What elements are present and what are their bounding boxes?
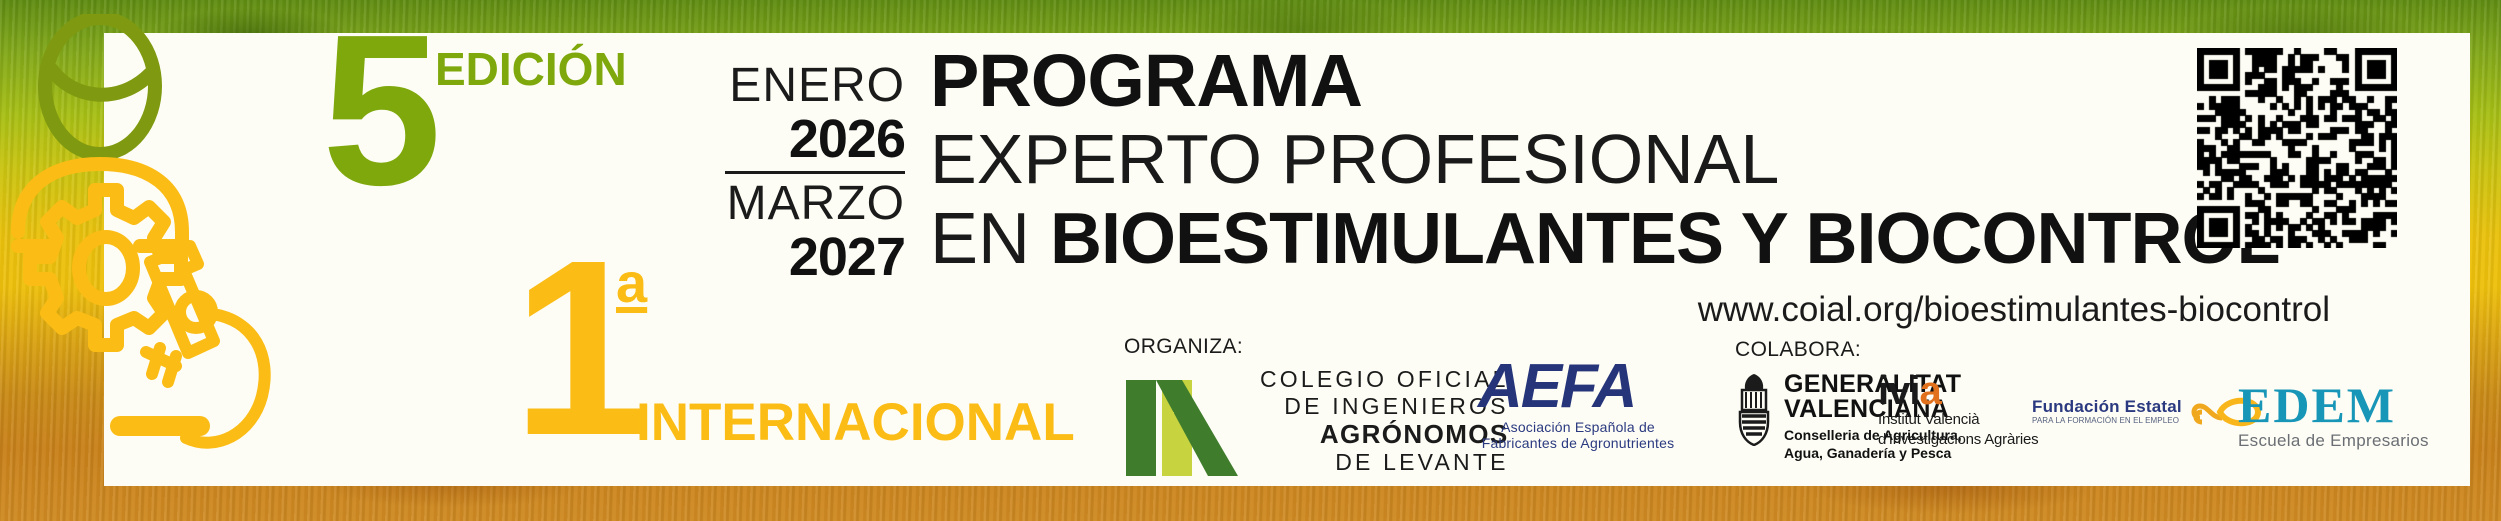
coial-line-4: DE LEVANTE (1260, 449, 1509, 476)
start-year: 2026 (725, 112, 905, 167)
program-url[interactable]: www.coial.org/bioestimulantes-biocontrol (930, 290, 2330, 330)
date-range: ENERO 2026 MARZO 2027 (725, 60, 905, 285)
fundacion-estatal-logo[interactable]: Fundación Estatal PARA LA FORMACIÓN EN E… (2032, 392, 2264, 432)
ivia-logo[interactable]: ivia Institut Valencià d'Investigacions … (1878, 372, 2038, 449)
edem-subtitle: Escuela de Empresarios (2238, 431, 2429, 451)
headline-line-2: EXPERTO PROFESIONAL (930, 120, 2330, 198)
fundacion-line-2: PARA LA FORMACIÓN EN EL EMPLEO (2032, 417, 2182, 426)
colabora-kicker: COLABORA: (1735, 338, 1861, 362)
aefa-wordmark: AEFA (1478, 358, 1678, 417)
aefa-subtitle-line-2: Fabricantes de Agronutrientes (1478, 435, 1678, 452)
qr-code[interactable] (2197, 48, 2397, 248)
edem-wordmark: EDEM (2238, 380, 2429, 430)
coial-line-3: AGRÓNOMOS (1260, 419, 1509, 449)
ivia-wordmark: ivia (1878, 372, 2038, 410)
ivia-subtitle-line-2: d'Investigacions Agràries (1878, 430, 2038, 450)
start-month: ENERO (725, 60, 905, 112)
aefa-logo[interactable]: AEFA Asociación Española de Fabricantes … (1478, 358, 1678, 452)
coial-mark-icon (1122, 362, 1242, 480)
date-divider (725, 171, 905, 174)
end-month: MARZO (725, 178, 905, 230)
end-year: 2027 (725, 230, 905, 285)
coial-line-1: COLEGIO OFICIAL (1260, 366, 1509, 393)
coial-wordmark: COLEGIO OFICIAL DE INGENIEROS AGRÓNOMOS … (1260, 366, 1509, 476)
international-label: INTERNACIONAL (636, 392, 1075, 453)
coial-logo[interactable]: COLEGIO OFICIAL DE INGENIEROS AGRÓNOMOS … (1122, 362, 1509, 480)
ivia-subtitle: Institut Valencià d'Investigacions Agràr… (1878, 410, 2038, 449)
headline-line-3: EN BIOESTIMULANTES Y BIOCONTROL (930, 199, 2330, 280)
organiza-kicker: ORGANIZA: (1124, 335, 1243, 359)
edition-number: 5 (322, 22, 436, 198)
edition-label: EDICIÓN (435, 42, 627, 96)
aefa-subtitle-line-1: Asociación Española de (1478, 419, 1678, 436)
headline-line-3-prefix: EN (930, 199, 1030, 279)
fundacion-wordmark: Fundación Estatal PARA LA FORMACIÓN EN E… (2032, 398, 2182, 425)
headline-line-1: PROGRAMA (930, 42, 2330, 120)
generalitat-crest-icon (1732, 372, 1776, 446)
event-banner: 5 EDICIÓN 1 a INTERNACIONAL ENERO 2026 M… (0, 0, 2501, 521)
headline-block: PROGRAMA EXPERTO PROFESIONAL EN BIOESTIM… (930, 42, 2330, 279)
coial-line-2: DE INGENIEROS (1260, 393, 1509, 420)
aefa-subtitle: Asociación Española de Fabricantes de Ag… (1478, 419, 1678, 452)
international-ordinal-suffix: a (616, 250, 647, 315)
edition-block: 5 EDICIÓN (322, 22, 652, 222)
fundacion-line-1: Fundación Estatal (2032, 398, 2182, 417)
ivia-word-part-1: ivi (1878, 369, 1919, 413)
edem-logo[interactable]: EDEM Escuela de Empresarios (2238, 380, 2429, 451)
headline-line-3-strong: BIOESTIMULANTES Y BIOCONTROL (1050, 199, 2279, 279)
ivia-word-part-2: a (1919, 369, 1940, 413)
ivia-subtitle-line-1: Institut Valencià (1878, 410, 2038, 430)
